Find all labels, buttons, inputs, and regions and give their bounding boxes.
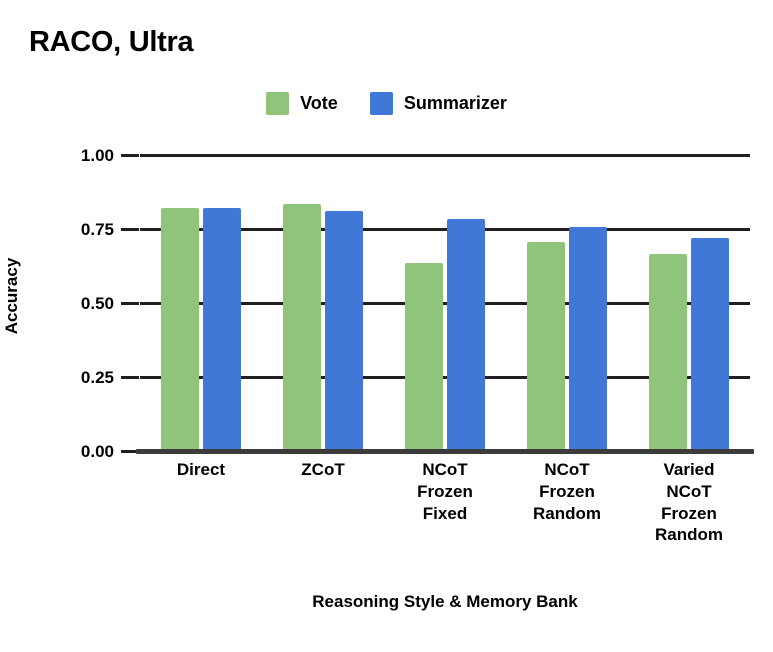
- bar-vote-2[interactable]: [405, 263, 443, 451]
- x-tick-label-1: ZCoT: [262, 459, 384, 481]
- x-axis-title: Reasoning Style & Memory Bank: [140, 592, 750, 612]
- chart-figure: RACO, Ultra VoteSummarizer 0.000.250.500…: [0, 0, 773, 652]
- gridline: [140, 154, 750, 157]
- bar-vote-3[interactable]: [527, 242, 565, 451]
- x-tick-label-3: NCoTFrozenRandom: [506, 459, 628, 524]
- x-tick-label-line: Fixed: [384, 503, 506, 525]
- chart-legend: VoteSummarizer: [0, 92, 773, 115]
- x-tick-label-line: ZCoT: [262, 459, 384, 481]
- x-tick-label-line: Frozen: [506, 481, 628, 503]
- x-tick-label-line: Random: [628, 524, 750, 546]
- legend-label: Vote: [300, 93, 338, 114]
- y-tick-label: 0.50: [44, 295, 114, 312]
- x-tick-label-line: Random: [506, 503, 628, 525]
- x-tick-label-line: NCoT: [384, 459, 506, 481]
- y-tick-mark: [121, 376, 139, 379]
- y-tick-mark: [121, 154, 139, 157]
- legend-swatch-summarizer: [370, 92, 393, 115]
- x-tick-label-line: Frozen: [628, 503, 750, 525]
- y-tick-mark: [121, 228, 139, 231]
- x-tick-label-line: NCoT: [628, 481, 750, 503]
- x-tick-label-line: NCoT: [506, 459, 628, 481]
- y-tick-label: 0.25: [44, 369, 114, 386]
- legend-item-summarizer[interactable]: Summarizer: [370, 92, 507, 115]
- bar-vote-4[interactable]: [649, 254, 687, 451]
- legend-item-vote[interactable]: Vote: [266, 92, 338, 115]
- y-tick-label: 0.75: [44, 221, 114, 238]
- x-axis-line: [136, 449, 754, 454]
- bar-vote-1[interactable]: [283, 204, 321, 451]
- bar-vote-0[interactable]: [161, 208, 199, 451]
- y-tick-label: 1.00: [44, 147, 114, 164]
- x-tick-label-line: Frozen: [384, 481, 506, 503]
- bar-summarizer-2[interactable]: [447, 219, 485, 451]
- y-tick-mark: [121, 302, 139, 305]
- y-tick-label: 0.00: [44, 443, 114, 460]
- y-axis-title: Accuracy: [2, 56, 22, 536]
- x-tick-label-0: Direct: [140, 459, 262, 481]
- bar-summarizer-1[interactable]: [325, 211, 363, 451]
- legend-label: Summarizer: [404, 93, 507, 114]
- x-axis-tick-labels: DirectZCoTNCoTFrozenFixedNCoTFrozenRando…: [140, 459, 750, 569]
- legend-swatch-vote: [266, 92, 289, 115]
- bar-summarizer-3[interactable]: [569, 227, 607, 451]
- x-tick-label-2: NCoTFrozenFixed: [384, 459, 506, 524]
- bar-summarizer-0[interactable]: [203, 208, 241, 451]
- plot-area: 0.000.250.500.751.00: [140, 155, 750, 451]
- bar-summarizer-4[interactable]: [691, 238, 729, 451]
- x-tick-label-line: Direct: [140, 459, 262, 481]
- x-tick-label-line: Varied: [628, 459, 750, 481]
- chart-title: RACO, Ultra: [29, 26, 193, 59]
- x-tick-label-4: VariedNCoTFrozenRandom: [628, 459, 750, 546]
